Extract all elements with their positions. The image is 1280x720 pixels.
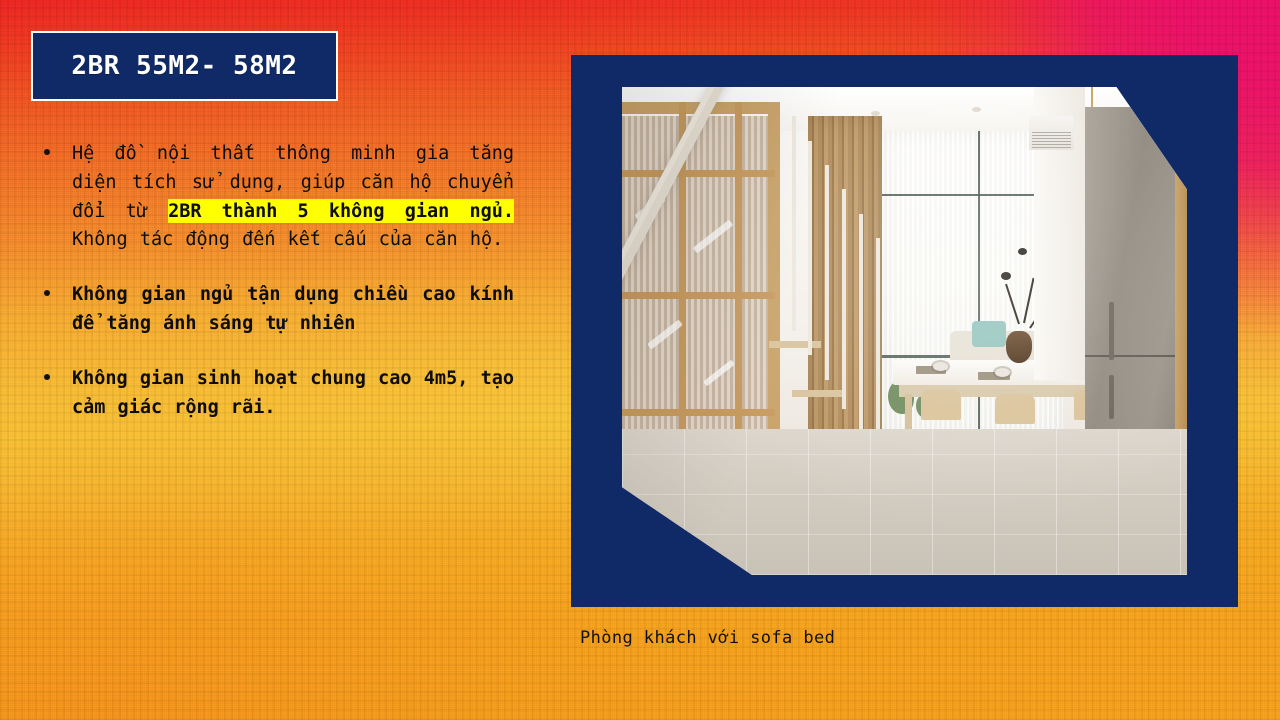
photo-chair-back [921, 390, 961, 420]
bullet-item: Không gian sinh hoạt chung cao 4m5, tạo … [38, 365, 514, 423]
title-box: 2BR 55M2- 58M2 [31, 31, 338, 101]
photo-baluster [859, 214, 863, 438]
photo-floor-tiles [622, 429, 1187, 575]
bullet-text-run: Không tác động đến kết cấu của căn hộ. [72, 229, 503, 250]
photo-plate [995, 368, 1010, 377]
bullet-dot-icon [44, 374, 50, 380]
photo-baluster [842, 189, 846, 409]
photo-baluster [825, 165, 829, 380]
photo-baluster [792, 116, 796, 331]
bullet-text: Không gian sinh hoạt chung cao 4m5, tạo … [72, 365, 514, 423]
photo-stair-tread [792, 390, 846, 397]
photo-stair-tread [769, 341, 821, 348]
photo-fridge-handle [1109, 302, 1114, 361]
photo-ac-vent [1032, 131, 1072, 148]
bullet-list: Hệ đồ nội thất thông minh gia tăng diện … [38, 140, 514, 422]
photo-leaf [1018, 248, 1027, 255]
photo-fridge-seam [1085, 355, 1181, 357]
slide-canvas: 2BR 55M2- 58M2 Hệ đồ nội thất thông minh… [0, 0, 1280, 720]
bullet-item: Hệ đồ nội thất thông minh gia tăng diện … [38, 140, 514, 255]
photo-fridge-handle [1109, 375, 1114, 419]
bullet-text-run: Không gian ngủ tận dụng chiều cao kính đ… [72, 284, 514, 334]
photo-downlight [972, 107, 981, 112]
bullet-text-run: Không gian sinh hoạt chung cao 4m5, tạo … [72, 368, 514, 418]
page-title: 2BR 55M2- 58M2 [71, 51, 297, 81]
photo-glass-mullion [622, 170, 775, 177]
photo-glass-mullion [622, 292, 775, 299]
bullet-text: Hệ đồ nội thất thông minh gia tăng diện … [72, 140, 514, 255]
bullet-item: Không gian ngủ tận dụng chiều cao kính đ… [38, 281, 514, 339]
photo-vase [1006, 331, 1032, 363]
interior-photo [622, 87, 1187, 575]
photo-baluster [808, 141, 812, 356]
highlighted-text: 2BR thành 5 không gian ngủ. [168, 199, 514, 223]
bullet-dot-icon [44, 290, 50, 296]
image-frame [571, 55, 1238, 607]
photo-glass-mullion [622, 409, 775, 416]
photo-chair-back [995, 394, 1035, 424]
bullet-dot-icon [44, 149, 50, 155]
image-caption: Phòng khách với sofa bed [580, 628, 835, 648]
photo-cushion [972, 321, 1006, 347]
bullet-text: Không gian ngủ tận dụng chiều cao kính đ… [72, 281, 514, 339]
